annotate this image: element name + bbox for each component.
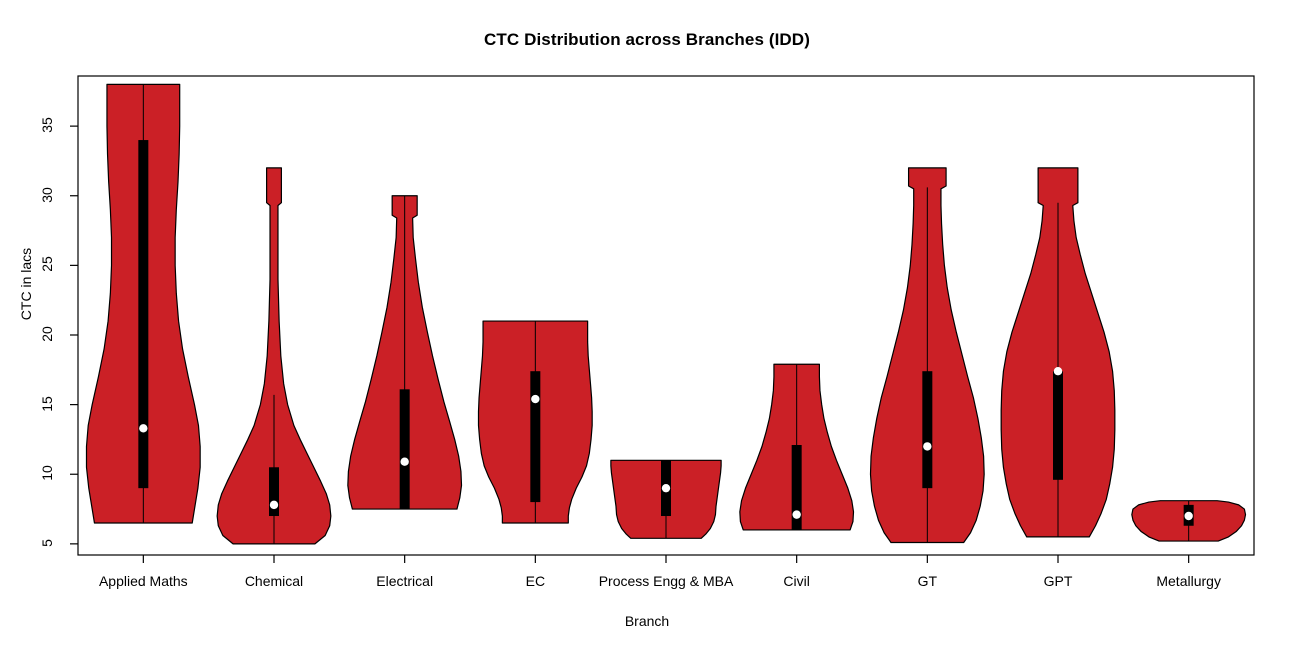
median-point — [1054, 367, 1062, 375]
median-point — [400, 458, 408, 466]
y-tick-label: 35 — [39, 108, 55, 142]
violin-gt[interactable] — [870, 168, 984, 543]
y-tick-label: 20 — [39, 317, 55, 351]
median-point — [270, 501, 278, 509]
x-tick-label-gt: GT — [918, 573, 937, 589]
violin-metallurgy[interactable] — [1132, 501, 1246, 541]
iqr-box — [400, 389, 410, 509]
x-tick-label-ec: EC — [526, 573, 545, 589]
iqr-box — [138, 140, 148, 488]
chart-canvas: CTC Distribution across Branches (IDD) C… — [0, 0, 1294, 653]
x-tick-label-electrical: Electrical — [376, 573, 433, 589]
median-point — [792, 510, 800, 518]
x-tick-label-civil: Civil — [783, 573, 809, 589]
median-point — [139, 424, 147, 432]
median-point — [662, 484, 670, 492]
median-point — [923, 442, 931, 450]
iqr-box — [922, 371, 932, 488]
x-tick-label-applied-maths: Applied Maths — [99, 573, 188, 589]
iqr-box — [530, 371, 540, 502]
x-tick-label-metallurgy: Metallurgy — [1156, 573, 1221, 589]
violin-civil[interactable] — [740, 364, 854, 530]
violin-applied-maths[interactable] — [86, 84, 200, 523]
violins-group — [86, 84, 1245, 544]
x-tick-label-chemical: Chemical — [245, 573, 303, 589]
y-tick-label: 5 — [39, 526, 55, 560]
violin-process-engg-mba[interactable] — [611, 460, 721, 538]
violin-electrical[interactable] — [348, 196, 462, 509]
y-tick-label: 25 — [39, 247, 55, 281]
median-point — [1184, 512, 1192, 520]
x-tick-label-gpt: GPT — [1044, 573, 1073, 589]
y-tick-label: 10 — [39, 456, 55, 490]
y-tick-label: 30 — [39, 178, 55, 212]
median-point — [531, 395, 539, 403]
iqr-box — [1053, 371, 1063, 480]
violin-gpt[interactable] — [1001, 168, 1115, 537]
y-tick-label: 15 — [39, 387, 55, 421]
violin-chemical[interactable] — [217, 168, 331, 544]
x-tick-label-process-engg-mba: Process Engg & MBA — [599, 573, 734, 589]
violin-ec[interactable] — [478, 321, 592, 523]
violin-plot — [0, 0, 1294, 653]
